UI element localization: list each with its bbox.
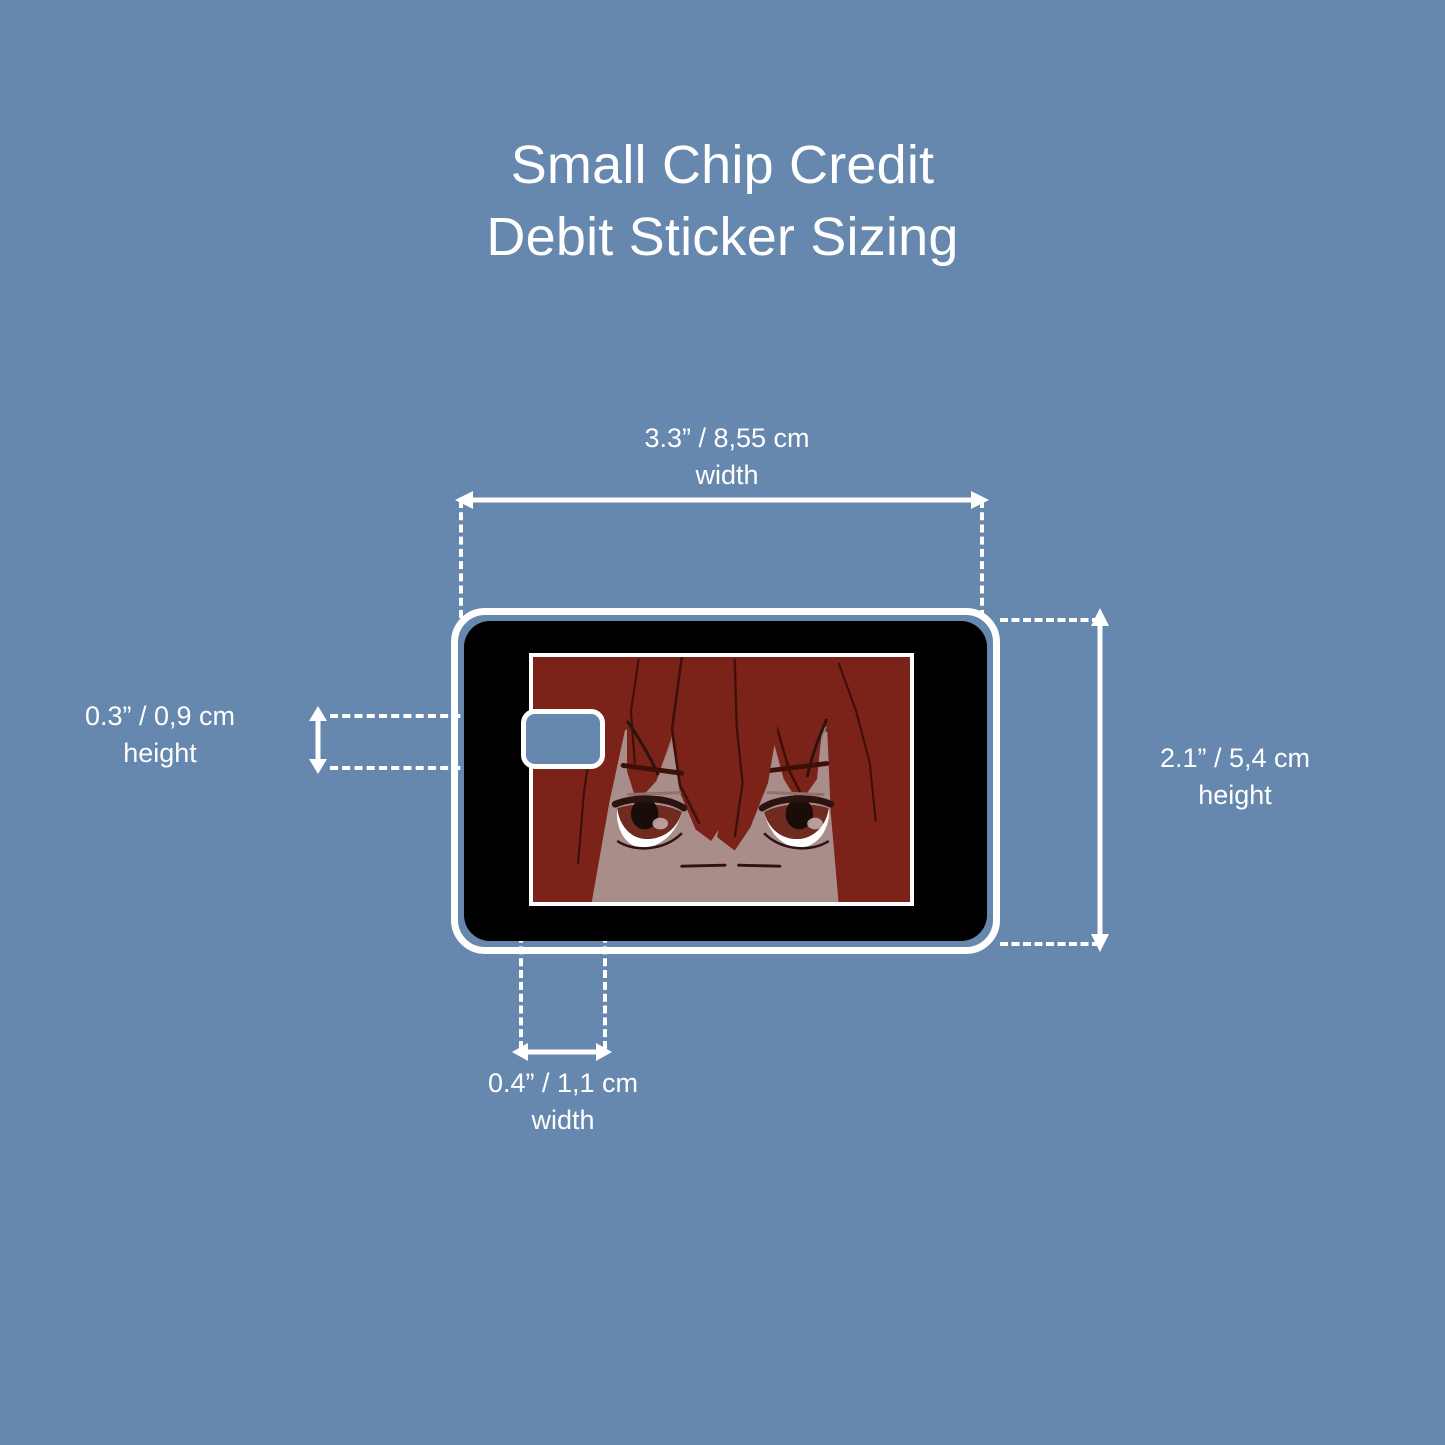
card-height-label: 2.1” / 5,4 cm height bbox=[1110, 740, 1360, 813]
chip-width-measure: 0.4” / 1,1 cm bbox=[438, 1065, 688, 1102]
title-line-2: Debit Sticker Sizing bbox=[0, 202, 1445, 274]
card-artwork-frame bbox=[529, 653, 914, 906]
chip-height-arrow bbox=[306, 706, 330, 774]
title-line-1: Small Chip Credit bbox=[0, 130, 1445, 202]
page-title: Small Chip Credit Debit Sticker Sizing bbox=[0, 130, 1445, 274]
card-height-measure: 2.1” / 5,4 cm bbox=[1110, 740, 1360, 777]
card-height-arrow bbox=[1088, 608, 1112, 952]
chip-width-label: 0.4” / 1,1 cm width bbox=[438, 1065, 688, 1138]
card-width-arrow bbox=[455, 488, 989, 512]
chip-width-arrow bbox=[512, 1040, 612, 1064]
card-height-leader-top bbox=[1000, 618, 1100, 622]
card-height-leader-bottom bbox=[1000, 942, 1100, 946]
card-height-axis: height bbox=[1110, 777, 1360, 814]
chip-height-label: 0.3” / 0,9 cm height bbox=[20, 698, 300, 771]
card-width-leader-right bbox=[980, 500, 984, 618]
card-width-leader-left bbox=[459, 500, 463, 618]
chip-width-axis: width bbox=[438, 1102, 688, 1139]
poster-canvas: Small Chip Credit Debit Sticker Sizing 3… bbox=[0, 0, 1445, 1445]
card-width-label: 3.3” / 8,55 cm width bbox=[512, 420, 942, 493]
card-chip bbox=[521, 709, 605, 769]
card-artwork bbox=[533, 657, 910, 902]
anime-face-illustration bbox=[533, 657, 910, 902]
chip-height-axis: height bbox=[20, 735, 300, 772]
chip-height-measure: 0.3” / 0,9 cm bbox=[20, 698, 300, 735]
card-width-measure: 3.3” / 8,55 cm bbox=[512, 420, 942, 457]
